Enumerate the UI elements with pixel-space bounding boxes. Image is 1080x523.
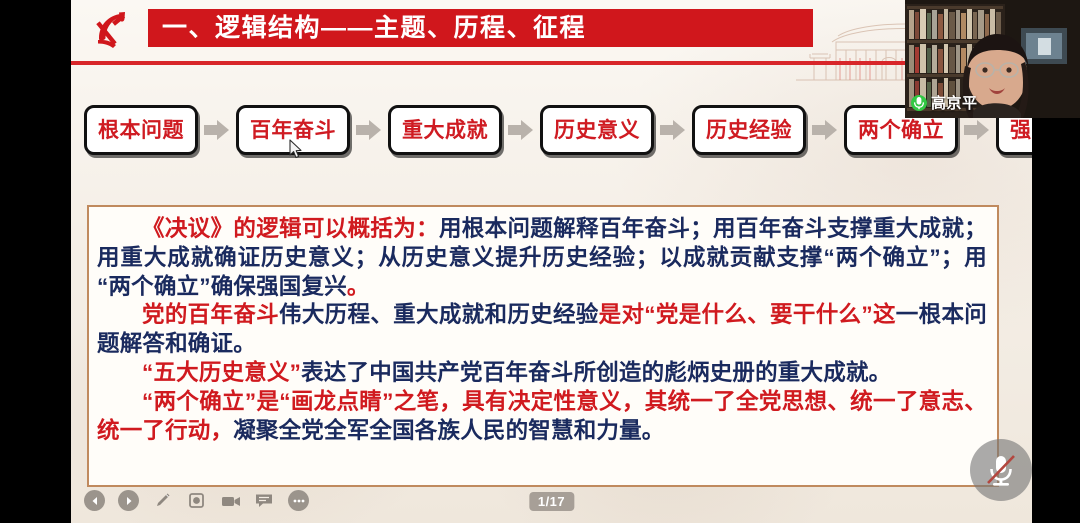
slide-header: 一、逻辑结构——主题、历程、征程 <box>71 0 1032 64</box>
flow-step-label: 百年奋斗 <box>250 120 336 141</box>
right-arrow-icon <box>356 119 382 141</box>
notes-button[interactable] <box>254 490 275 511</box>
flow-step-5[interactable]: 历史经验 <box>692 105 806 155</box>
right-arrow-icon <box>508 119 534 141</box>
text-run-0: “五大历史意义” <box>142 360 301 385</box>
microphone-active-icon <box>911 94 927 112</box>
previous-slide-button[interactable] <box>84 490 105 511</box>
right-arrow-icon <box>964 119 990 141</box>
text-run-2: 。 <box>347 274 370 299</box>
slide-body-textbox: 《决议》的逻辑可以概括为：用根本问题解释百年奋斗；用百年奋斗支撑重大成就；用重大… <box>87 205 999 487</box>
header-divider <box>71 61 1032 65</box>
participant-name-badge: 高京平 <box>911 92 978 113</box>
paragraph-1: 《决议》的逻辑可以概括为：用根本问题解释百年奋斗；用百年奋斗支撑重大成就；用重大… <box>97 215 987 301</box>
laser-pointer-button[interactable] <box>186 490 207 511</box>
slide-title-bar: 一、逻辑结构——主题、历程、征程 <box>148 9 813 47</box>
participant-name: 高京平 <box>931 92 978 113</box>
flow-step-label: 历史意义 <box>554 120 640 141</box>
paragraph-3: “五大历史意义”表达了中国共产党百年奋斗所创造的彪炳史册的重大成就。 <box>97 359 987 388</box>
right-arrow-icon <box>204 119 230 141</box>
text-run-0: 党的百年奋斗 <box>142 302 279 327</box>
text-run-0: 《决议》的逻辑可以概括为： <box>142 216 439 241</box>
mute-microphone-button[interactable] <box>970 439 1032 501</box>
paragraph-2: 党的百年奋斗伟大历程、重大成就和历史经验是对“党是什么、要干什么”这一根本问题解… <box>97 301 987 359</box>
text-run-2: 是对“党是什么、要干什么”这 <box>599 302 896 327</box>
text-run-1: 表达了中国共产党百年奋斗所创造的彪炳史册的重大成就。 <box>301 360 891 385</box>
previous-icon <box>89 495 101 507</box>
pencil-icon <box>153 491 172 510</box>
text-run-1: 伟大历程、重大成就和历史经验 <box>279 302 599 327</box>
flow-step-label: 重大成就 <box>402 120 488 141</box>
paragraph-4: “两个确立”是“画龙点睛”之笔，具有决定性意义，其统一了全党思想、统一了意志、统… <box>97 388 987 446</box>
notes-icon <box>255 493 274 509</box>
slide-playback-toolbar[interactable] <box>84 490 309 511</box>
laser-pointer-icon <box>187 491 206 510</box>
flow-step-label: 根本问题 <box>98 120 184 141</box>
more-horizontal-icon <box>292 498 306 504</box>
cpc-hammer-sickle-emblem-icon <box>92 7 136 51</box>
screen-share-viewport: 一、逻辑结构——主题、历程、征程 根本问题 百年奋斗 重大成就 <box>0 0 1080 523</box>
microphone-muted-icon <box>985 452 1017 488</box>
flow-step-label: 强国复兴 <box>1010 120 1032 141</box>
right-arrow-icon <box>660 119 686 141</box>
video-camera-icon <box>221 493 241 509</box>
flow-step-2[interactable]: 百年奋斗 <box>236 105 350 155</box>
flow-step-1[interactable]: 根本问题 <box>84 105 198 155</box>
next-icon <box>123 495 135 507</box>
page-indicator: 1/17 <box>529 492 574 511</box>
right-arrow-icon <box>812 119 838 141</box>
flow-step-label: 两个确立 <box>858 120 944 141</box>
record-button[interactable] <box>220 490 241 511</box>
annotate-button[interactable] <box>152 490 173 511</box>
more-options-button[interactable] <box>288 490 309 511</box>
logic-flow-chart: 根本问题 百年奋斗 重大成就 历史意义 <box>84 105 1024 155</box>
participant-video-tile[interactable]: 高京平 <box>905 0 1080 118</box>
text-run-1: 凝聚全党全军全国各族人民的智慧和力量。 <box>233 418 664 443</box>
presentation-slide[interactable]: 一、逻辑结构——主题、历程、征程 根本问题 百年奋斗 重大成就 <box>71 0 1032 523</box>
page-title: 一、逻辑结构——主题、历程、征程 <box>148 16 598 41</box>
flow-step-3[interactable]: 重大成就 <box>388 105 502 155</box>
flow-step-4[interactable]: 历史意义 <box>540 105 654 155</box>
flow-step-label: 历史经验 <box>706 120 792 141</box>
next-slide-button[interactable] <box>118 490 139 511</box>
